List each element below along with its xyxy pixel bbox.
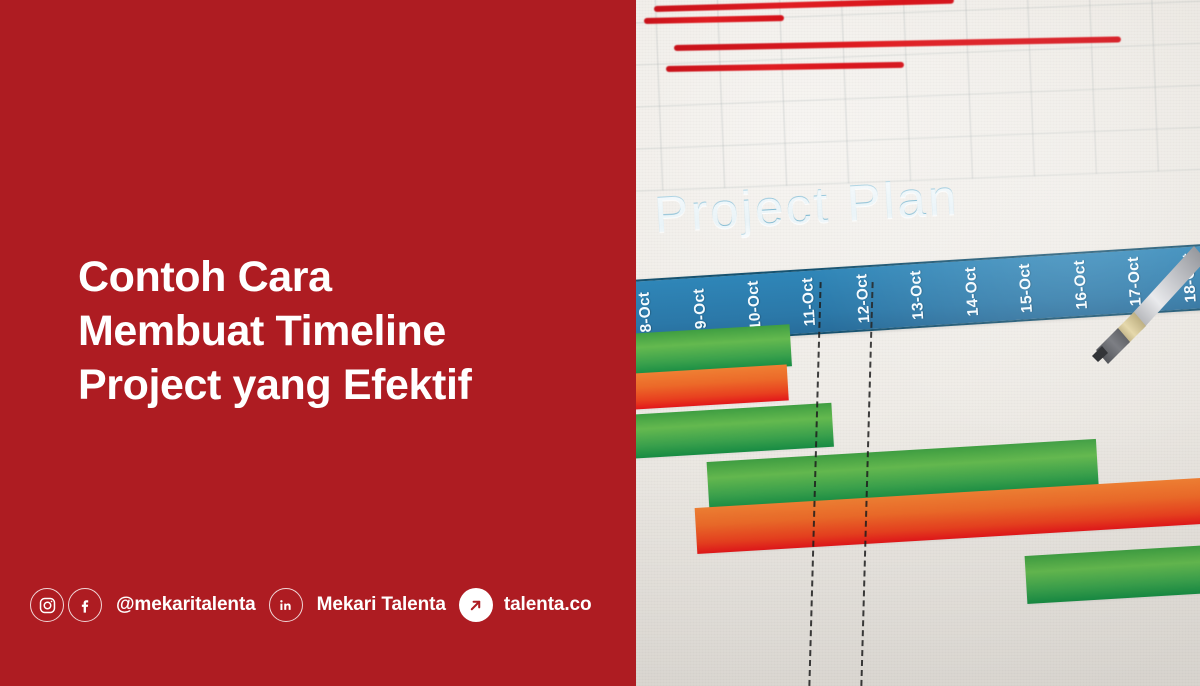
date-cell: 15-Oct — [998, 255, 1056, 320]
article-banner: Contoh Cara Membuat Timeline Project yan… — [0, 0, 1200, 686]
social-footer-bar: @mekaritalenta Mekari Talenta — [30, 586, 592, 624]
graph-grid — [636, 0, 1200, 193]
date-label: 10-Oct — [744, 280, 765, 330]
social-handle[interactable]: @mekaritalenta — [116, 594, 256, 616]
date-label: 15-Oct — [1016, 263, 1037, 313]
date-label: 11-Oct — [799, 277, 820, 327]
date-label: 13-Oct — [907, 270, 928, 320]
instagram-icon[interactable] — [30, 588, 64, 622]
gantt-bar-row-6 — [1025, 545, 1200, 604]
page-title-line-1: Contoh Cara — [78, 250, 598, 304]
date-cell: 14-Oct — [943, 259, 1001, 324]
arrow-up-right-icon[interactable] — [459, 588, 493, 622]
linkedin-icon[interactable] — [269, 588, 303, 622]
date-cell: 13-Oct — [889, 262, 947, 327]
pen-icon — [1086, 238, 1200, 378]
linkedin-name[interactable]: Mekari Talenta — [317, 594, 446, 616]
website-link[interactable]: talenta.co — [504, 594, 592, 616]
project-plan-photo: Project Plan 8-Oct 9-Oct 10-Oct 11-Oct 1… — [636, 0, 1200, 686]
date-cell: 12-Oct — [834, 266, 892, 331]
facebook-icon[interactable] — [68, 588, 102, 622]
page-title: Contoh Cara Membuat Timeline Project yan… — [78, 250, 598, 413]
date-label: 9-Oct — [690, 288, 711, 330]
page-title-line-2: Membuat Timeline — [78, 304, 598, 358]
date-label: 8-Oct — [636, 291, 656, 333]
left-red-panel: Contoh Cara Membuat Timeline Project yan… — [0, 0, 636, 686]
page-title-line-3: Project yang Efektif — [78, 358, 598, 412]
date-label: 14-Oct — [962, 266, 983, 316]
